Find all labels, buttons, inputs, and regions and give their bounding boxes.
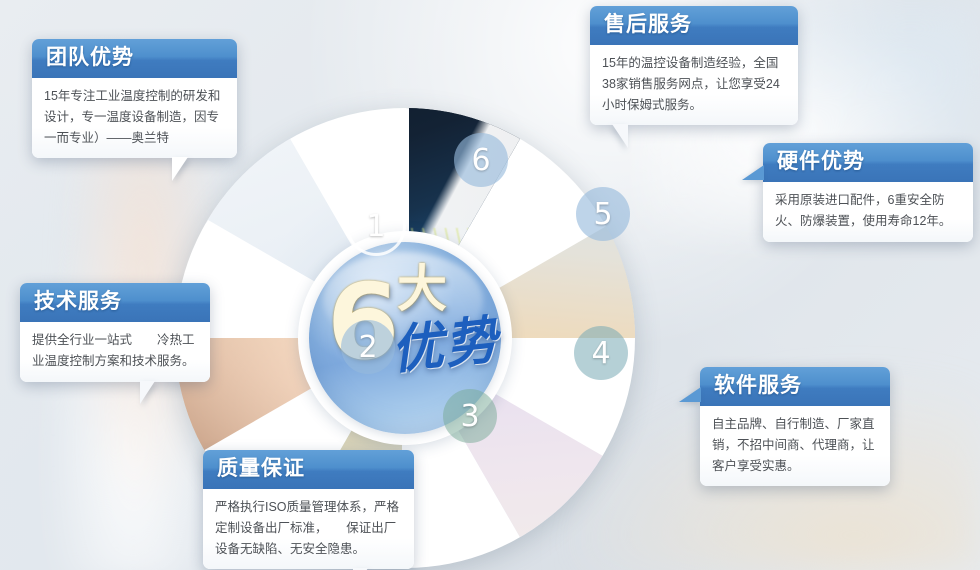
callout-card-quality[interactable]: 质量保证 严格执行ISO质量管理体系，严格定制设备出厂标准， 保证出厂设备无缺陷… (203, 450, 414, 569)
infographic-canvas: 6 大 优势 1 2 3 4 5 6 团队优势 15年专注工业温度控制的研发和设… (0, 0, 980, 570)
callout-card-tech[interactable]: 技术服务 提供全行业一站式 冷热工业温度控制方案和技术服务。 (20, 283, 210, 382)
card-title-team: 团队优势 (32, 39, 237, 78)
wheel-marker-1[interactable]: 1 (346, 196, 406, 256)
callout-card-hardware[interactable]: 硬件优势 采用原装进口配件，6重安全防火、防爆装置，使用寿命12年。 (763, 143, 973, 242)
wheel-marker-6[interactable]: 6 (454, 133, 508, 187)
callout-tail (742, 165, 764, 180)
card-title-quality: 质量保证 (203, 450, 414, 489)
wheel-marker-5[interactable]: 5 (576, 187, 630, 241)
marker-label: 3 (460, 399, 479, 434)
center-word: 优势 (388, 313, 501, 380)
marker-label: 2 (358, 330, 377, 365)
wheel-marker-3[interactable]: 3 (443, 389, 497, 443)
card-body-software: 自主品牌、自行制造、厂家直销，不招中间商、代理商，让客户享受实惠。 (700, 406, 890, 486)
card-body-quality: 严格执行ISO质量管理体系，严格定制设备出厂标准， 保证出厂设备无缺陷、无安全隐… (203, 489, 414, 569)
card-body-tech: 提供全行业一站式 冷热工业温度控制方案和技术服务。 (20, 322, 210, 381)
card-body-hardware: 采用原装进口配件，6重安全防火、防爆装置，使用寿命12年。 (763, 182, 973, 241)
callout-card-after-sales[interactable]: 售后服务 15年的温控设备制造经验，全国38家销售服务网点，让您享受24小时保姆… (590, 6, 798, 125)
wheel-marker-2[interactable]: 2 (341, 320, 395, 374)
card-body-team: 15年专注工业温度控制的研发和设计，专一温度设备制造，因专一而专业）——奥兰特 (32, 78, 237, 158)
card-title-tech: 技术服务 (20, 283, 210, 322)
wheel-marker-4[interactable]: 4 (574, 326, 628, 380)
callout-card-software[interactable]: 软件服务 自主品牌、自行制造、厂家直销，不招中间商、代理商，让客户享受实惠。 (700, 367, 890, 486)
center-big-char: 大 (397, 264, 447, 314)
marker-label: 4 (591, 336, 610, 371)
marker-label: 5 (593, 197, 612, 232)
marker-label: 1 (366, 209, 385, 244)
callout-tail (679, 387, 701, 402)
card-title-software: 软件服务 (700, 367, 890, 406)
card-title-after-sales: 售后服务 (590, 6, 798, 45)
card-title-hardware: 硬件优势 (763, 143, 973, 182)
card-body-after-sales: 15年的温控设备制造经验，全国38家销售服务网点，让您享受24小时保姆式服务。 (590, 45, 798, 125)
marker-label: 6 (471, 143, 490, 178)
callout-card-team[interactable]: 团队优势 15年专注工业温度控制的研发和设计，专一温度设备制造，因专一而专业）—… (32, 39, 237, 158)
callout-tail (140, 381, 155, 404)
callout-tail (612, 124, 628, 148)
callout-tail (172, 157, 188, 181)
